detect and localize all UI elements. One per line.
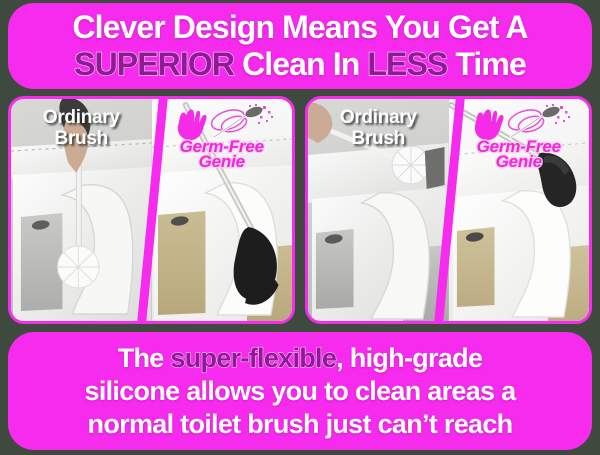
copy-line-2: silicone allows you to clean areas a <box>85 375 516 408</box>
copy-emphasis-super-flexible: super-flexible <box>170 343 336 373</box>
headline-banner: Clever Design Means You Get A SUPERIOR C… <box>8 3 592 89</box>
panel-right[interactable]: Ordinary Brush <box>305 96 592 324</box>
copy-line-1-start: The <box>118 343 171 373</box>
toilet-cutaway-illustration <box>449 99 590 321</box>
headline-line-2-end: Time <box>447 46 526 82</box>
copy-line-1-end: , high-grade <box>336 343 482 373</box>
advertisement-root: Clever Design Means You Get A SUPERIOR C… <box>0 0 600 455</box>
panel-right-after-photo: Germ-Free Genie <box>449 99 590 321</box>
panel-left[interactable]: Ordinary Brush <box>8 96 295 324</box>
toilet-cutaway-illustration <box>152 99 293 321</box>
panel-right-before-photo: Ordinary Brush <box>308 99 449 321</box>
headline-line-2: SUPERIOR Clean In LESS Time <box>74 46 526 83</box>
toilet-cutaway-illustration <box>308 99 449 321</box>
panel-right-halves: Ordinary Brush <box>308 99 589 321</box>
headline-emphasis-less: LESS <box>367 46 447 82</box>
copy-line-1: The super-flexible, high-grade <box>118 342 483 375</box>
panel-left-after-photo: Germ-Free Genie <box>152 99 293 321</box>
comparison-panels: Ordinary Brush <box>8 96 592 324</box>
headline-line-2-mid: Clean In <box>234 46 367 82</box>
toilet-cutaway-illustration <box>11 99 152 321</box>
headline-line-1: Clever Design Means You Get A <box>72 9 527 46</box>
panel-left-before-photo: Ordinary Brush <box>11 99 152 321</box>
copy-line-3: normal toilet brush just can’t reach <box>88 408 513 441</box>
copy-banner: The super-flexible, high-grade silicone … <box>8 332 592 450</box>
panel-left-halves: Ordinary Brush <box>11 99 292 321</box>
headline-emphasis-superior: SUPERIOR <box>74 46 234 82</box>
